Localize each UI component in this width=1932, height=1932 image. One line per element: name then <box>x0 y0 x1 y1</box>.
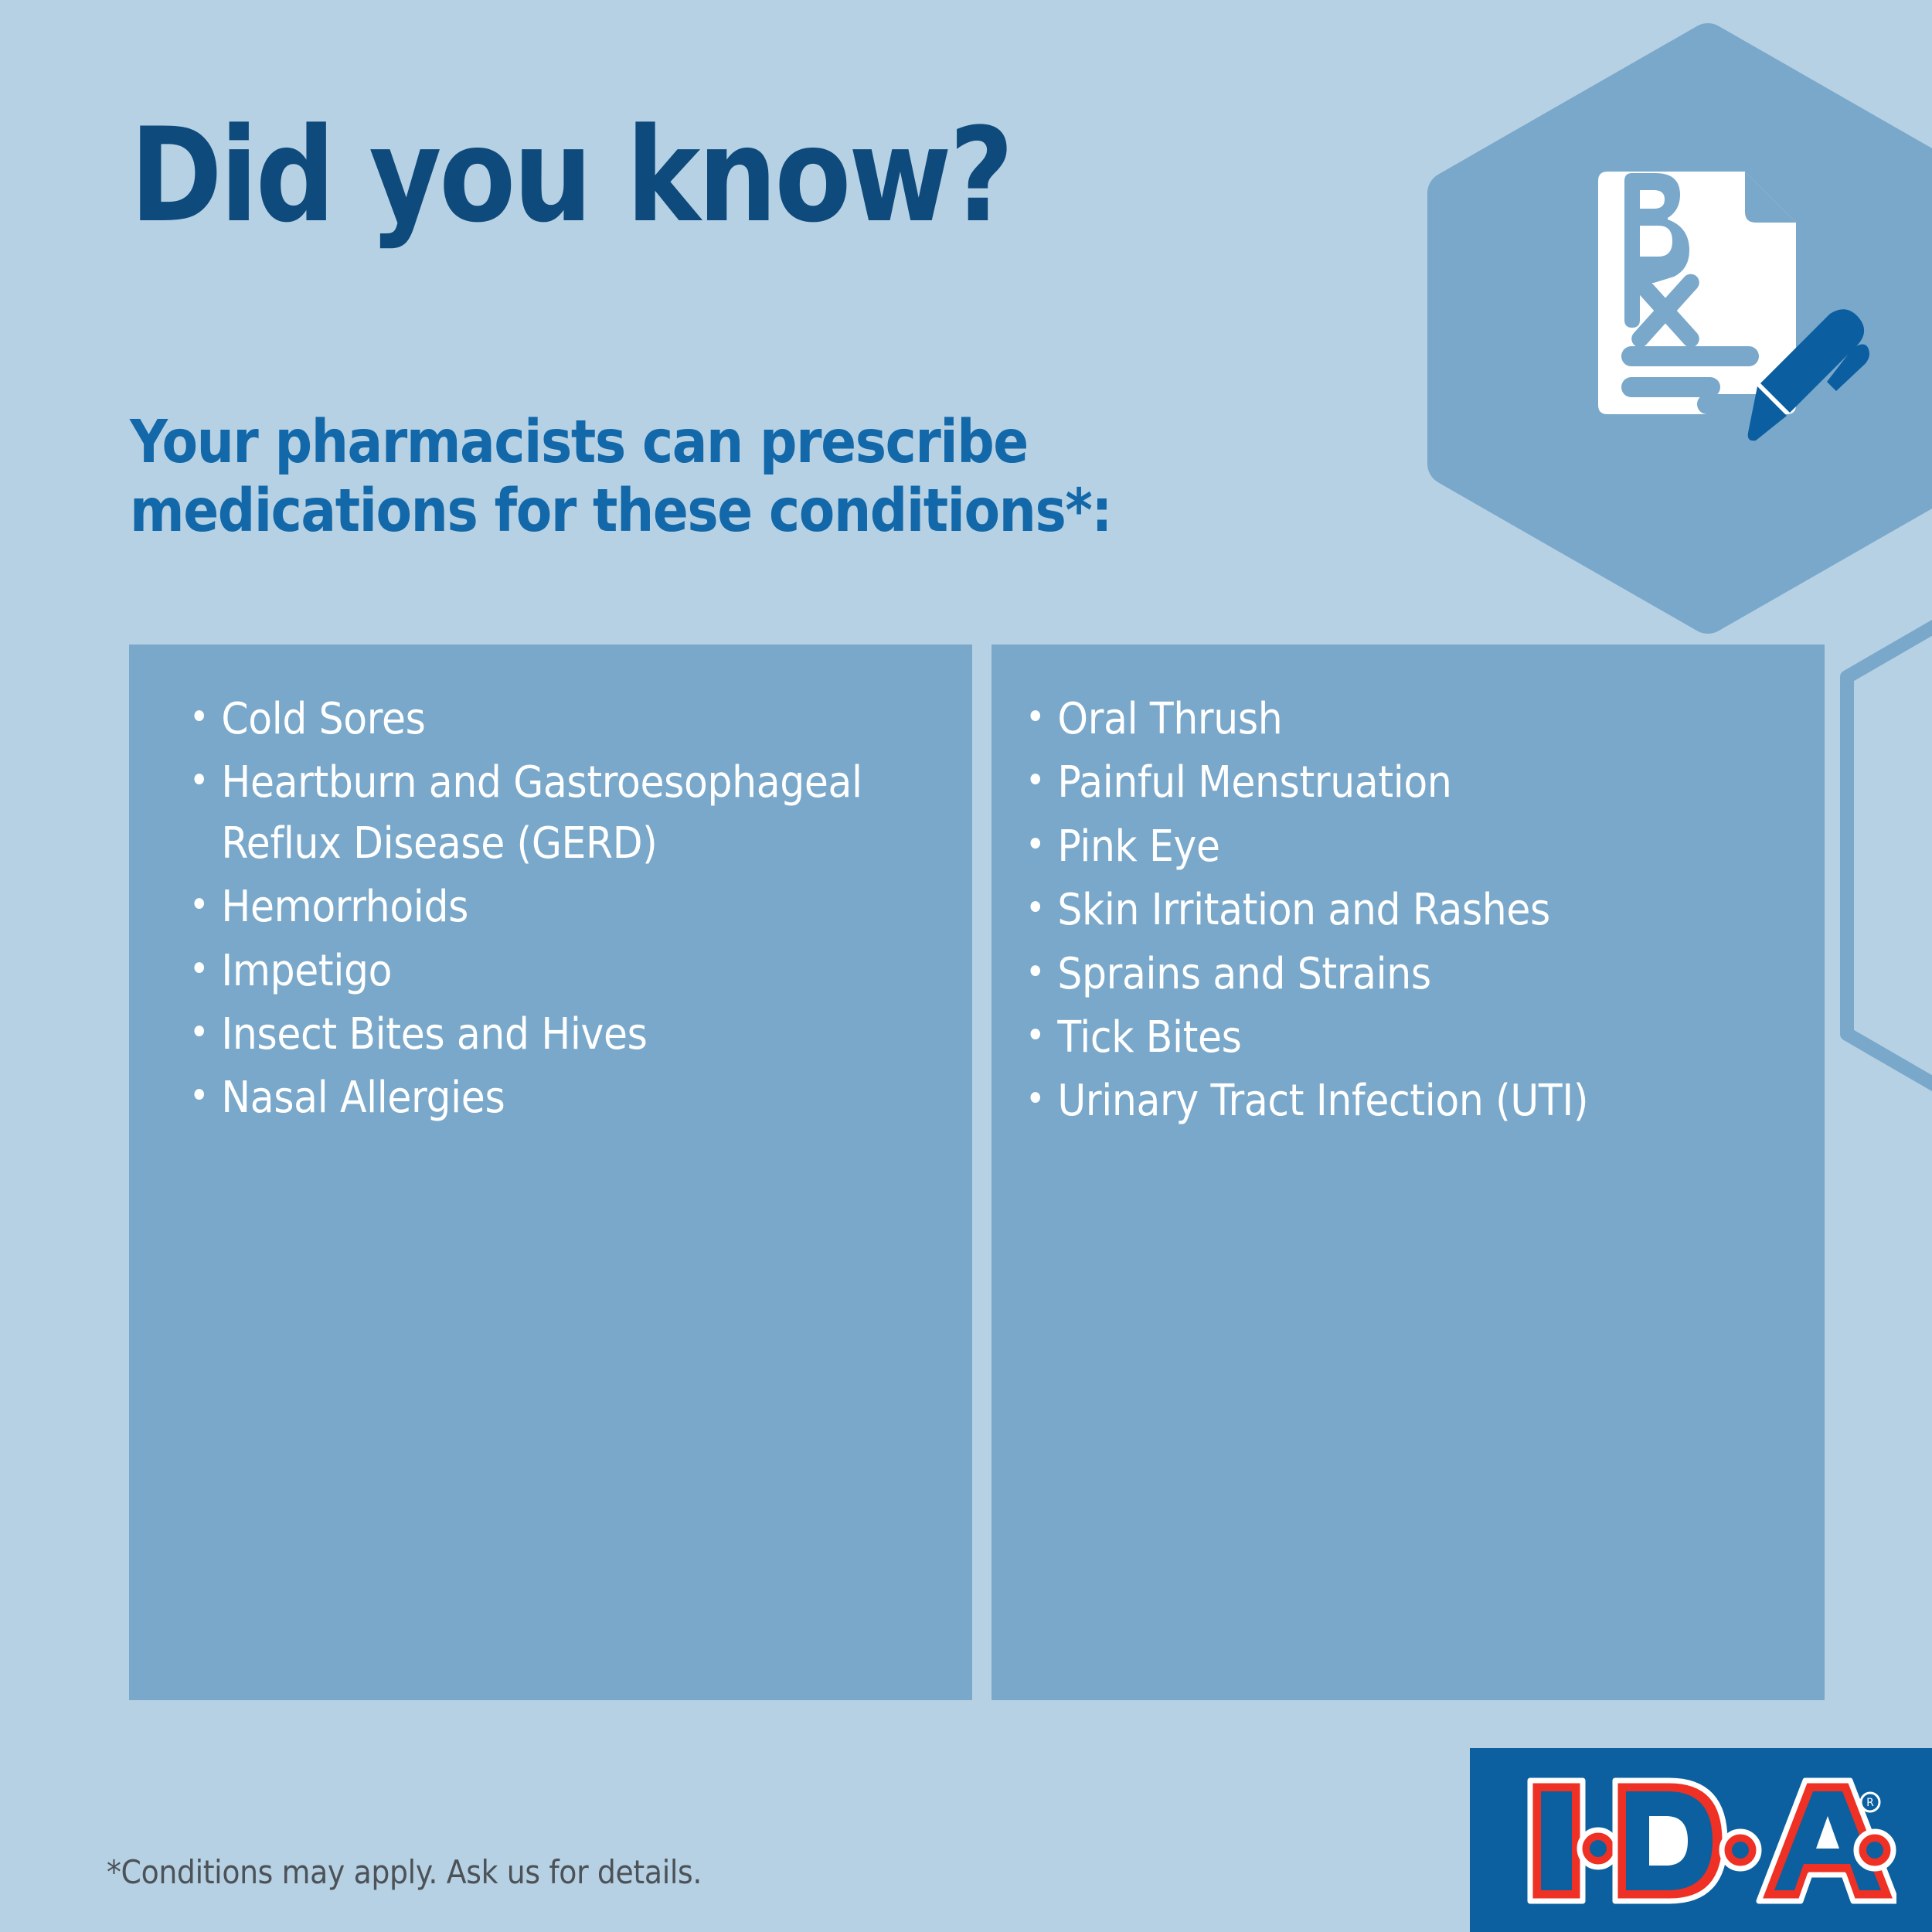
conditions-panel-right: Oral Thrush Painful Menstruation Pink Ey… <box>992 645 1825 1700</box>
page-title: Did you know? <box>130 111 1012 240</box>
list-item: Nasal Allergies <box>189 1068 866 1128</box>
logo-letter-d <box>1615 1781 1725 1901</box>
list-item: Urinary Tract Infection (UTI) <box>1026 1071 1724 1131</box>
conditions-panel-left: Cold Sores Heartburn and Gastroesophagea… <box>129 645 972 1700</box>
logo-dot-2 <box>1722 1832 1759 1869</box>
subheading-line-2: medications for these conditions*: <box>130 477 1111 546</box>
list-item: Pink Eye <box>1026 817 1724 877</box>
logo-dot-3 <box>1856 1832 1893 1869</box>
svg-text:R: R <box>1866 1797 1874 1809</box>
list-item: Skin Irritation and Rashes <box>1026 880 1724 940</box>
subheading: Your pharmacists can prescribe medicatio… <box>130 408 1111 546</box>
list-item: Insect Bites and Hives <box>189 1005 866 1065</box>
document-folded-corner <box>1745 172 1796 223</box>
list-item: Heartburn and Gastroesophageal Reflux Di… <box>189 753 866 874</box>
list-item: Sprains and Strains <box>1026 944 1724 1005</box>
logo-letter-i <box>1530 1781 1583 1901</box>
document-content-line-2 <box>1621 377 1720 397</box>
poster-canvas: Did you know? Your pharmacists can presc… <box>0 0 1932 1932</box>
logo-dot-1 <box>1580 1830 1617 1867</box>
list-item: Tick Bites <box>1026 1008 1724 1068</box>
list-item: Cold Sores <box>189 689 866 750</box>
list-item: Oral Thrush <box>1026 689 1724 750</box>
ida-logo-block: R <box>1470 1748 1932 1932</box>
pen-icon <box>1747 309 1870 448</box>
conditions-list-left: Cold Sores Heartburn and Gastroesophagea… <box>129 645 972 1129</box>
document-content-line-1 <box>1621 346 1759 366</box>
list-item: Impetigo <box>189 941 866 1002</box>
ida-logo: R <box>1526 1776 1896 1906</box>
hexagon-outline-shape <box>1847 572 1932 1139</box>
list-item: Painful Menstruation <box>1026 753 1724 813</box>
logo-registered-mark: R <box>1861 1793 1879 1811</box>
list-item: Hemorrhoids <box>189 877 866 937</box>
subheading-line-1: Your pharmacists can prescribe <box>130 408 1111 477</box>
footnote-disclaimer: *Conditions may apply. Ask us for detail… <box>107 1853 702 1891</box>
conditions-list-right: Oral Thrush Painful Menstruation Pink Ey… <box>992 645 1825 1132</box>
